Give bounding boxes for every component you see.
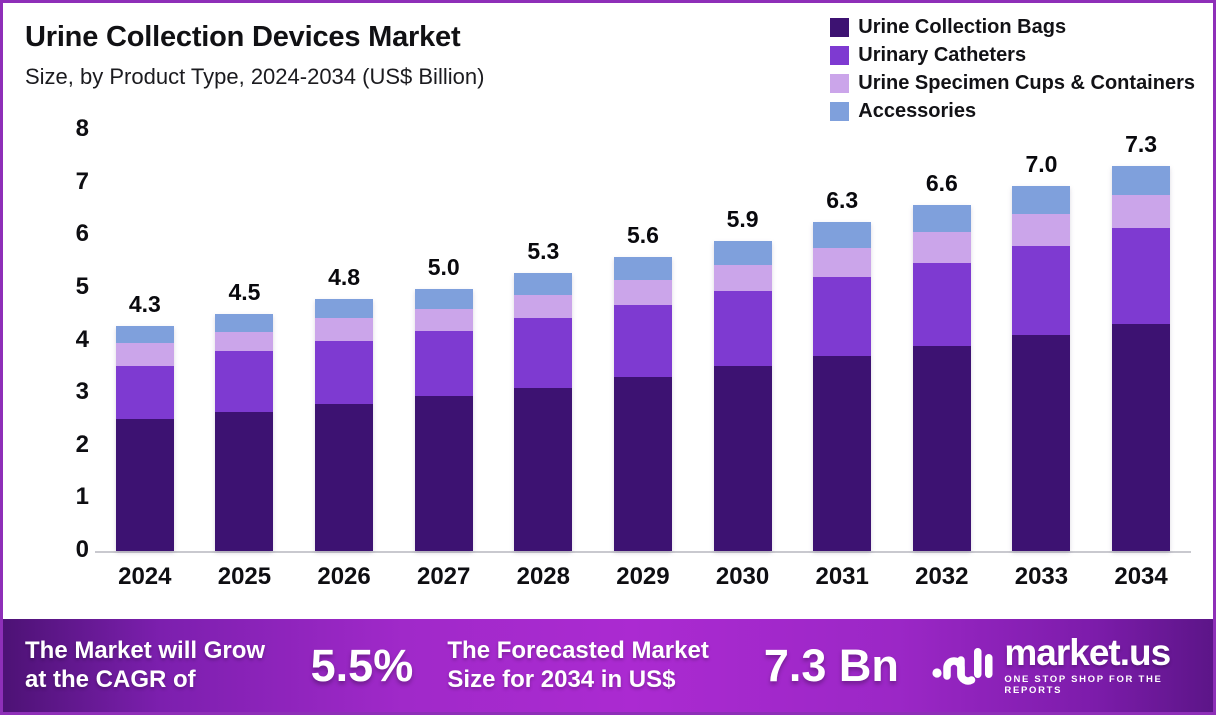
infographic-frame: Urine Collection Devices Market Size, by…	[0, 0, 1216, 715]
bar-segment[interactable]	[614, 305, 672, 378]
bar-segment[interactable]	[714, 291, 772, 366]
stacked-bar[interactable]	[315, 299, 373, 551]
bar-segment[interactable]	[215, 351, 273, 412]
bar-segment[interactable]	[1112, 324, 1170, 551]
bar-value-label: 4.3	[129, 293, 161, 316]
bar-segment[interactable]	[813, 277, 871, 356]
bar-column[interactable]: 4.3	[104, 130, 186, 551]
y-axis-tick: 3	[76, 380, 89, 404]
x-axis-tick: 2026	[303, 563, 385, 591]
stacked-bar[interactable]	[415, 289, 473, 551]
stacked-bar[interactable]	[116, 326, 174, 551]
legend-item-label: Accessories	[858, 100, 976, 123]
bar-segment[interactable]	[116, 343, 174, 366]
bar-segment[interactable]	[614, 280, 672, 305]
stacked-bar[interactable]	[714, 241, 772, 551]
bar-column[interactable]: 5.6	[602, 130, 684, 551]
bar-segment[interactable]	[1012, 335, 1070, 551]
y-axis-tick: 5	[76, 275, 89, 299]
x-axis-line	[95, 551, 1191, 553]
legend-item[interactable]: Urine Collection Bags	[830, 13, 1066, 41]
y-axis-tick: 2	[76, 433, 89, 457]
bar-segment[interactable]	[813, 356, 871, 551]
y-axis-tick: 6	[76, 222, 89, 246]
bar-value-label: 4.8	[328, 266, 360, 289]
bar-value-label: 5.9	[727, 208, 759, 231]
y-axis: 012345678	[43, 123, 89, 553]
bar-segment[interactable]	[913, 263, 971, 346]
bar-segment[interactable]	[215, 412, 273, 551]
bar-value-label: 5.6	[627, 224, 659, 247]
legend-item-label: Urine Specimen Cups & Containers	[858, 72, 1195, 95]
bar-segment[interactable]	[415, 396, 473, 551]
bar-segment[interactable]	[1012, 246, 1070, 335]
x-axis-tick: 2031	[801, 563, 883, 591]
bar-segment[interactable]	[614, 377, 672, 551]
stacked-bar[interactable]	[514, 273, 572, 551]
footer-size-value: 7.3 Bn	[735, 640, 927, 692]
stacked-bar[interactable]	[1112, 166, 1170, 551]
x-axis: 2024202520262027202820292030203120322033…	[95, 563, 1191, 603]
bar-segment[interactable]	[116, 366, 174, 420]
y-axis-tick: 4	[76, 328, 89, 352]
bar-segment[interactable]	[315, 318, 373, 341]
bar-value-label: 7.0	[1025, 153, 1057, 176]
bar-column[interactable]: 4.5	[203, 130, 285, 551]
legend-swatch-icon	[830, 102, 849, 121]
brand-logo[interactable]: market.us ONE STOP SHOP FOR THE REPORTS	[931, 635, 1213, 696]
x-axis-tick: 2032	[901, 563, 983, 591]
bar-segment[interactable]	[1112, 195, 1170, 228]
bar-segment[interactable]	[1012, 214, 1070, 246]
footer-banner: The Market will Grow at the CAGR of 5.5%…	[3, 619, 1213, 712]
brand-name: market.us	[1004, 635, 1213, 670]
legend-item-label: Urine Collection Bags	[858, 16, 1066, 39]
y-axis-tick: 7	[76, 170, 89, 194]
legend-swatch-icon	[830, 18, 849, 37]
legend-item[interactable]: Urinary Catheters	[830, 41, 1026, 69]
legend-item[interactable]: Urine Specimen Cups & Containers	[830, 69, 1195, 97]
x-axis-tick: 2028	[502, 563, 584, 591]
bar-column[interactable]: 5.9	[702, 130, 784, 551]
bar-segment[interactable]	[614, 257, 672, 280]
bar-segment[interactable]	[813, 248, 871, 277]
brand-tagline: ONE STOP SHOP FOR THE REPORTS	[1004, 674, 1213, 696]
bar-value-label: 5.0	[428, 256, 460, 279]
bar-segment[interactable]	[315, 299, 373, 318]
bar-value-label: 6.3	[826, 189, 858, 212]
stacked-bar[interactable]	[913, 205, 971, 551]
footer-size-label: The Forecasted Market Size for 2034 in U…	[447, 637, 735, 694]
market-us-logo-icon	[931, 640, 993, 691]
bar-segment[interactable]	[215, 314, 273, 331]
bar-segment[interactable]	[415, 331, 473, 396]
x-axis-tick: 2027	[403, 563, 485, 591]
bar-segment[interactable]	[116, 419, 174, 551]
stacked-bar[interactable]	[614, 257, 672, 551]
bar-segment[interactable]	[514, 318, 572, 387]
bar-segment[interactable]	[1112, 228, 1170, 324]
legend-item[interactable]: Accessories	[830, 97, 976, 125]
bar-value-label: 4.5	[228, 281, 260, 304]
bar-segment[interactable]	[315, 404, 373, 551]
x-axis-tick: 2029	[602, 563, 684, 591]
bar-column[interactable]: 7.0	[1000, 130, 1082, 551]
legend-swatch-icon	[830, 74, 849, 93]
bar-segment[interactable]	[1012, 186, 1070, 214]
footer-cagr-value: 5.5%	[277, 640, 448, 692]
page-title: Urine Collection Devices Market	[25, 21, 484, 54]
bar-value-label: 5.3	[527, 240, 559, 263]
bar-segment[interactable]	[116, 326, 174, 343]
bar-segment[interactable]	[1112, 166, 1170, 195]
bar-segment[interactable]	[215, 332, 273, 351]
bar-column[interactable]: 6.3	[801, 130, 883, 551]
header: Urine Collection Devices Market Size, by…	[25, 21, 484, 90]
bar-segment[interactable]	[714, 265, 772, 291]
stacked-bar[interactable]	[1012, 186, 1070, 551]
footer-cagr-label: The Market will Grow at the CAGR of	[25, 637, 277, 694]
x-axis-tick: 2034	[1100, 563, 1182, 591]
chart-subtitle: Size, by Product Type, 2024-2034 (US$ Bi…	[25, 64, 484, 90]
bar-series-area: 4.34.54.85.05.35.65.96.36.67.07.3	[95, 130, 1191, 551]
y-axis-tick: 8	[76, 117, 89, 141]
bar-segment[interactable]	[813, 222, 871, 248]
chart-legend: Urine Collection BagsUrinary CathetersUr…	[830, 13, 1195, 125]
legend-item-label: Urinary Catheters	[858, 44, 1026, 67]
bar-segment[interactable]	[714, 366, 772, 551]
bar-segment[interactable]	[714, 241, 772, 265]
bar-segment[interactable]	[913, 232, 971, 263]
bar-column[interactable]: 7.3	[1100, 130, 1182, 551]
bar-column[interactable]: 6.6	[901, 130, 983, 551]
bar-column[interactable]: 5.0	[403, 130, 485, 551]
bar-segment[interactable]	[315, 341, 373, 404]
bar-value-label: 7.3	[1125, 133, 1157, 156]
x-axis-tick: 2030	[702, 563, 784, 591]
bar-column[interactable]: 5.3	[502, 130, 584, 551]
x-axis-tick: 2033	[1000, 563, 1082, 591]
x-axis-tick: 2024	[104, 563, 186, 591]
stacked-bar[interactable]	[813, 222, 871, 551]
y-axis-tick: 1	[76, 485, 89, 509]
bar-segment[interactable]	[415, 289, 473, 309]
bar-value-label: 6.6	[926, 172, 958, 195]
x-axis-tick: 2025	[203, 563, 285, 591]
bar-column[interactable]: 4.8	[303, 130, 385, 551]
y-axis-tick: 0	[76, 538, 89, 562]
bar-segment[interactable]	[514, 295, 572, 319]
bar-segment[interactable]	[514, 273, 572, 295]
stacked-bar[interactable]	[215, 314, 273, 551]
bar-segment[interactable]	[415, 309, 473, 331]
bar-segment[interactable]	[913, 205, 971, 232]
legend-swatch-icon	[830, 46, 849, 65]
bar-segment[interactable]	[913, 346, 971, 551]
bar-segment[interactable]	[514, 388, 572, 551]
